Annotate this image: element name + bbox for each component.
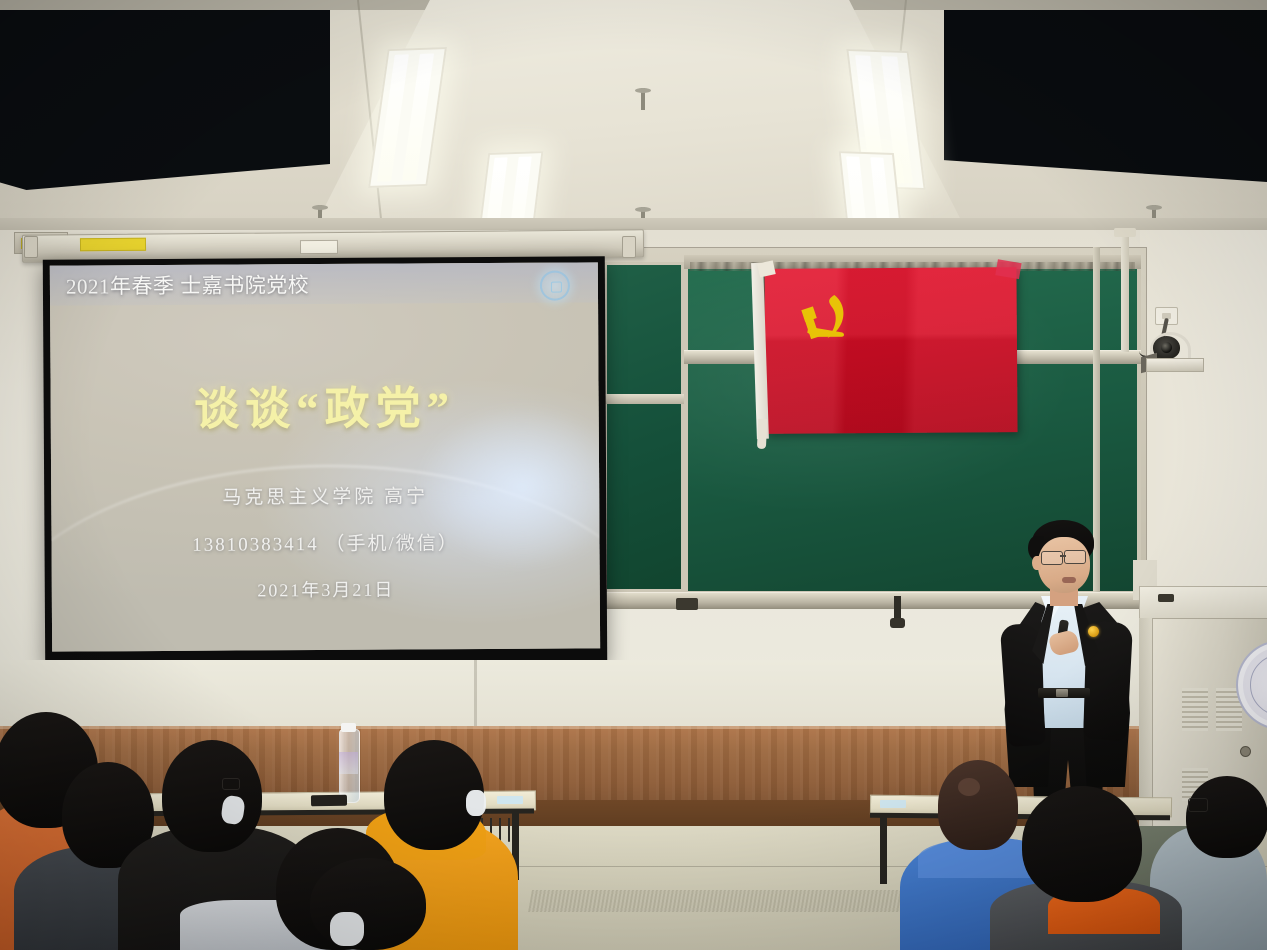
lecturer-face xyxy=(1038,537,1090,593)
eyeglasses-bridge xyxy=(1060,555,1066,557)
ceiling-dark-recess-left xyxy=(0,4,330,190)
smartphone xyxy=(311,795,347,807)
projection-screen: 2021年春季 士嘉书院党校 谈谈“政党” 马克思主义学院 高宁 1381038… xyxy=(43,256,607,664)
student-ponytail xyxy=(958,778,980,796)
eyeglasses-icon xyxy=(222,778,240,790)
university-emblem-icon xyxy=(540,271,570,301)
floor-textured-strip xyxy=(528,890,932,912)
slide-surface: 2021年春季 士嘉书院党校 谈谈“政党” 马克思主义学院 高宁 1381038… xyxy=(50,262,600,651)
screen-warning-label xyxy=(80,238,146,252)
hammer-and-sickle-emblem xyxy=(793,286,866,359)
water-bottle-label xyxy=(339,752,358,774)
ceiling-dark-recess-right xyxy=(944,0,1267,182)
slide-credits: 马克思主义学院 高宁 13810383414 （手机/微信） 2021年3月21… xyxy=(51,480,600,623)
screen-spec-label xyxy=(300,240,338,254)
lecturer xyxy=(996,520,1166,820)
sprinkler-head-icon xyxy=(318,205,322,218)
wall-conduit-cap xyxy=(1114,228,1136,237)
water-bottle-cap xyxy=(341,723,356,732)
eyeglasses-icon xyxy=(1041,551,1063,565)
desk-number-sticker xyxy=(880,800,906,808)
desk-number-sticker xyxy=(497,796,523,804)
eyeglasses-icon xyxy=(1188,798,1208,812)
lecturer-ear xyxy=(1032,556,1041,570)
gold-lapel-pin-icon xyxy=(1088,626,1099,637)
slide-date-line: 2021年3月21日 xyxy=(52,574,600,603)
student-head xyxy=(938,760,1018,850)
student-head xyxy=(1186,776,1267,858)
chalk-tray-clip xyxy=(676,598,698,610)
slide-contact-line: 13810383414 （手机/微信） xyxy=(51,527,599,557)
flag-corner-tab-left xyxy=(757,260,776,277)
cabinet-lock-icon xyxy=(1240,746,1251,757)
lecturer-belt-buckle xyxy=(1056,689,1068,697)
face-mask-icon xyxy=(330,912,364,946)
flag-tie-strip xyxy=(757,419,767,449)
flag-corner-tab-right xyxy=(995,259,1021,279)
camera-wall-bracket xyxy=(1146,358,1204,372)
slide-header-text: 2021年春季 士嘉书院党校 xyxy=(66,269,309,300)
sprinkler-head-icon xyxy=(641,88,645,110)
wall-conduit xyxy=(1121,232,1129,352)
wall-panel-seam xyxy=(474,660,477,728)
face-mask-icon xyxy=(466,790,486,816)
slide-title: 谈谈“政党” xyxy=(50,370,598,438)
screen-housing-end-left xyxy=(24,236,38,258)
chalk-tray-knob xyxy=(894,596,901,622)
party-flag xyxy=(764,267,1017,434)
lecturer-mouth xyxy=(1062,577,1076,583)
eyeglasses-icon xyxy=(1064,550,1086,564)
camera-lens-icon xyxy=(1161,342,1172,353)
screen-housing-end-right xyxy=(622,236,636,258)
student-head xyxy=(310,858,426,950)
desk-leg xyxy=(880,816,887,884)
classroom-photo: 2021年春季 士嘉书院党校 谈谈“政党” 马克思主义学院 高宁 1381038… xyxy=(0,0,1267,950)
student-head xyxy=(162,740,262,852)
blackboard-panel-left xyxy=(604,262,684,592)
student-head xyxy=(1022,786,1142,902)
blackboard-left-divider xyxy=(604,394,684,404)
slide-presenter-line: 马克思主义学院 高宁 xyxy=(51,480,599,510)
sprinkler-head-icon xyxy=(1152,205,1156,218)
cabinet-vent-icon xyxy=(1182,688,1208,731)
